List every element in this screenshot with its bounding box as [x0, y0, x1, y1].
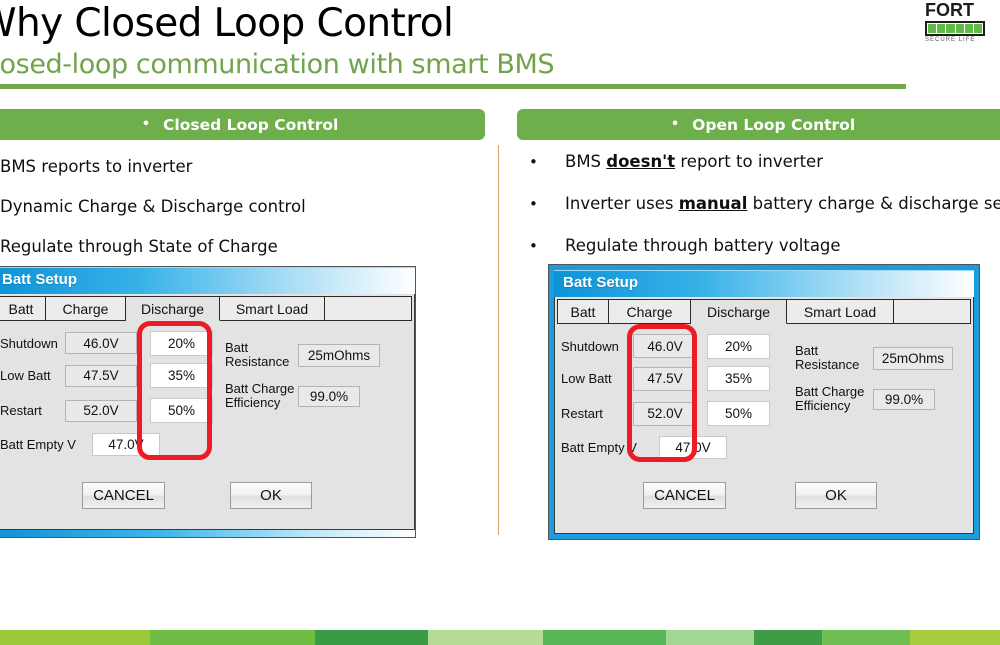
percent-field[interactable]: 50%	[707, 401, 770, 426]
tab-smart-load[interactable]: Smart Load	[787, 299, 894, 324]
tab-batt[interactable]: Batt	[0, 296, 46, 321]
batt-efficiency-row: Batt ChargeEfficiency 99.0%	[225, 376, 380, 416]
tab-bar[interactable]: Batt Charge Discharge Smart Load	[557, 299, 971, 324]
emphasis-text: manual	[679, 194, 748, 213]
voltage-field[interactable]: 47.5V	[633, 367, 697, 391]
tab-smart-load[interactable]: Smart Load	[220, 296, 325, 321]
list-item-label: Regulate through battery voltage	[565, 236, 841, 255]
footer-segment	[822, 630, 910, 645]
row-label: Shutdown	[561, 339, 633, 354]
footer-segment	[754, 630, 822, 645]
ok-button[interactable]: OK	[795, 482, 877, 509]
voltage-field[interactable]: 46.0V	[65, 332, 137, 354]
tab-discharge[interactable]: Discharge	[126, 296, 220, 321]
voltage-field[interactable]: 52.0V	[65, 400, 137, 422]
table-row: Low Batt 47.5V 35%	[0, 358, 213, 393]
bullet-dot-icon: •	[529, 237, 565, 255]
percent-field[interactable]: 35%	[707, 366, 770, 391]
batt-efficiency-field[interactable]: 99.0%	[873, 389, 935, 410]
dialog-body: Batt Charge Discharge Smart Load Shutdow…	[554, 297, 974, 534]
batt-efficiency-field[interactable]: 99.0%	[298, 386, 360, 407]
battery-info-block: BattResistance 25mOhms Batt ChargeEffici…	[225, 334, 380, 416]
banner-closed-loop-control: • Closed Loop Control	[0, 109, 485, 140]
batt-resistance-field[interactable]: 25mOhms	[298, 344, 380, 367]
batt-empty-field[interactable]: 47.0V	[92, 433, 160, 456]
batt-efficiency-row: Batt ChargeEfficiency 99.0%	[795, 379, 953, 419]
logo-tagline: SECURE LIFE	[925, 37, 997, 43]
batt-resistance-label: BattResistance	[225, 341, 298, 369]
dialog-titlebar: Batt Setup	[554, 270, 974, 297]
footer-segment	[150, 630, 315, 645]
batt-resistance-label: BattResistance	[795, 344, 873, 372]
brand-logo: FORT SECURE LIFE	[925, 1, 997, 45]
bullet-dot-icon: •	[529, 195, 565, 213]
percent-field[interactable]: 50%	[150, 398, 213, 423]
footer-segment	[910, 630, 1000, 645]
voltage-field[interactable]: 46.0V	[633, 334, 697, 358]
table-row: Restart 52.0V 50%	[561, 396, 770, 431]
footer-segment	[543, 630, 666, 645]
bullet-list-open-loop: • BMS doesn't report to inverter • Inver…	[529, 152, 1000, 278]
battery-info-block: BattResistance 25mOhms Batt ChargeEffici…	[795, 337, 953, 419]
discharge-settings-grid: Shutdown 46.0V 20% Low Batt 47.5V 35% Re…	[0, 328, 213, 460]
batt-resistance-row: BattResistance 25mOhms	[795, 337, 953, 379]
row-label: Low Batt	[0, 368, 65, 383]
row-label: Restart	[0, 403, 65, 418]
banner-left-label: Closed Loop Control	[163, 116, 338, 134]
batt-setup-dialog-open-loop[interactable]: Batt Setup Batt Charge Discharge Smart L…	[548, 264, 980, 540]
table-row: Shutdown 46.0V 20%	[561, 331, 770, 361]
table-row: Restart 52.0V 50%	[0, 393, 213, 428]
list-item: BMS reports to inverter	[0, 157, 474, 181]
tab-charge[interactable]: Charge	[46, 296, 126, 321]
footer-color-bar	[0, 630, 1000, 645]
list-item-label: BMS doesn't report to inverter	[565, 152, 823, 171]
list-item-label: Dynamic Charge & Discharge control	[0, 197, 306, 216]
batt-resistance-row: BattResistance 25mOhms	[225, 334, 380, 376]
discharge-settings-grid: Shutdown 46.0V 20% Low Batt 47.5V 35% Re…	[561, 331, 770, 463]
dialog-titlebar: Batt Setup	[0, 267, 415, 294]
batt-setup-dialog-closed-loop[interactable]: Batt Setup Batt Charge Discharge Smart L…	[0, 266, 416, 538]
batt-empty-field[interactable]: 47.0V	[659, 436, 727, 459]
list-item: • BMS doesn't report to inverter	[529, 152, 1000, 176]
batt-resistance-field[interactable]: 25mOhms	[873, 347, 953, 370]
banner-open-loop-control: • Open Loop Control	[517, 109, 1000, 140]
cancel-button[interactable]: CANCEL	[82, 482, 165, 509]
percent-field[interactable]: 20%	[707, 334, 770, 359]
row-label: Restart	[561, 406, 633, 421]
tab-filler	[894, 299, 971, 324]
ok-button[interactable]: OK	[230, 482, 312, 509]
list-item: • Regulate through battery voltage	[529, 236, 1000, 260]
page-subtitle: closed-loop communication with smart BMS	[0, 49, 554, 81]
banner-bullet-icon: •	[142, 117, 150, 132]
tab-bar[interactable]: Batt Charge Discharge Smart Load	[0, 296, 412, 321]
batt-efficiency-label: Batt ChargeEfficiency	[795, 385, 873, 413]
voltage-field[interactable]: 47.5V	[65, 365, 137, 387]
footer-segment	[666, 630, 754, 645]
tab-batt[interactable]: Batt	[557, 299, 609, 324]
percent-field[interactable]: 20%	[150, 331, 213, 356]
percent-field[interactable]: 35%	[150, 363, 213, 388]
bullet-list-closed-loop: BMS reports to inverter Dynamic Charge &…	[0, 157, 474, 277]
footer-segment	[428, 630, 543, 645]
tab-discharge[interactable]: Discharge	[691, 299, 787, 324]
batt-efficiency-label: Batt ChargeEfficiency	[225, 382, 298, 410]
battery-icon	[925, 21, 985, 36]
batt-empty-label: Batt Empty V	[561, 440, 659, 455]
table-row: Low Batt 47.5V 35%	[561, 361, 770, 396]
dialog-title: Batt Setup	[2, 271, 77, 288]
tab-filler	[325, 296, 412, 321]
logo-wordmark: FORT	[925, 1, 997, 19]
dialog-bottom-accent	[0, 530, 415, 537]
dialog-body: Batt Charge Discharge Smart Load Shutdow…	[0, 294, 415, 530]
voltage-field[interactable]: 52.0V	[633, 402, 697, 426]
title-divider-rule	[0, 84, 906, 89]
table-row: Shutdown 46.0V 20%	[0, 328, 213, 358]
row-label: Low Batt	[561, 371, 633, 386]
list-item: Dynamic Charge & Discharge control	[0, 197, 474, 221]
list-item-label: Regulate through State of Charge	[0, 237, 278, 256]
footer-segment	[0, 630, 150, 645]
list-item-label: BMS reports to inverter	[0, 157, 192, 176]
dialog-title: Batt Setup	[563, 274, 638, 291]
batt-empty-row: Batt Empty V 47.0V	[0, 428, 213, 460]
cancel-button[interactable]: CANCEL	[643, 482, 726, 509]
banner-right-label: Open Loop Control	[692, 116, 855, 134]
footer-segment	[315, 630, 428, 645]
tab-charge[interactable]: Charge	[609, 299, 691, 324]
batt-empty-row: Batt Empty V 47.0V	[561, 431, 770, 463]
list-item: Regulate through State of Charge	[0, 237, 474, 261]
banner-bullet-icon: •	[671, 117, 679, 132]
column-divider	[498, 145, 499, 535]
list-item: • Inverter uses manual battery charge & …	[529, 194, 1000, 218]
emphasis-text: doesn't	[606, 152, 675, 171]
page-title: Why Closed Loop Control	[0, 2, 453, 46]
batt-empty-label: Batt Empty V	[0, 437, 92, 452]
row-label: Shutdown	[0, 336, 65, 351]
list-item-label: Inverter uses manual battery charge & di…	[565, 194, 1000, 213]
bullet-dot-icon: •	[529, 153, 565, 171]
